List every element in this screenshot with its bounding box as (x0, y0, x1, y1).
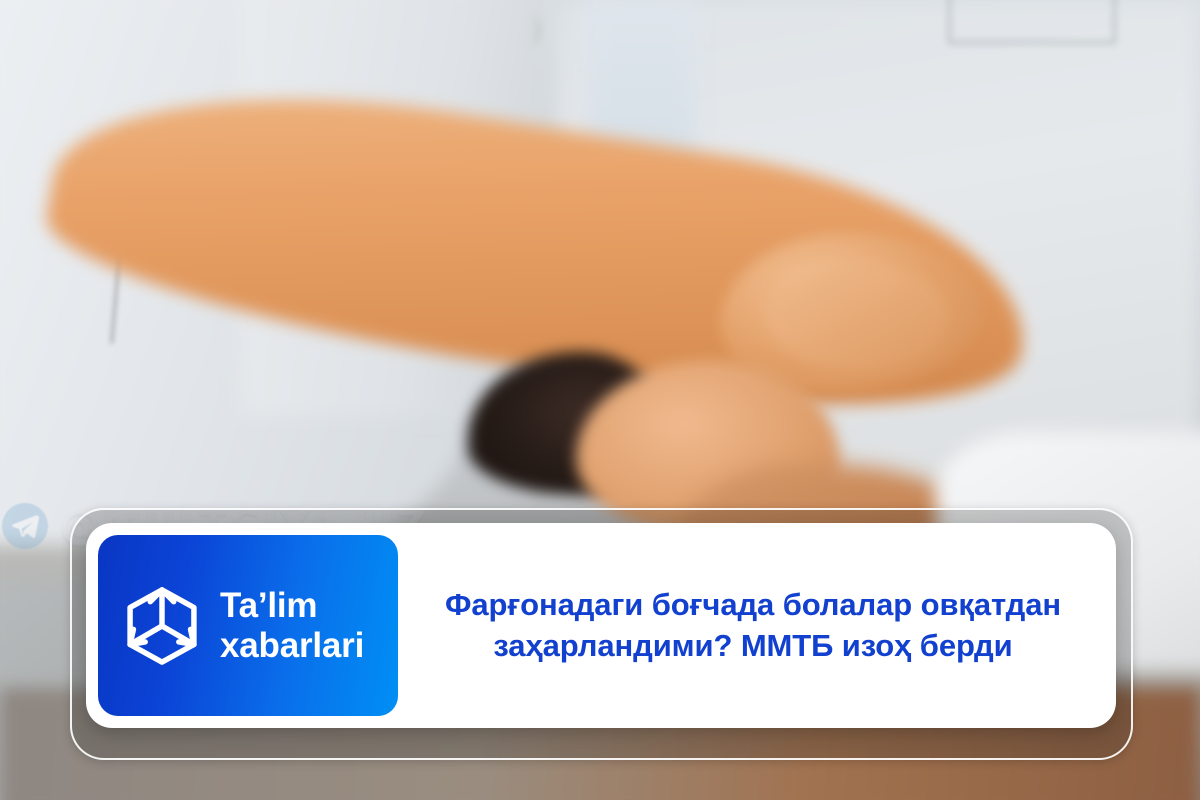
brand-name: Ta’lim xabarlari (220, 586, 364, 664)
news-card-image: @MULTGIYA_UZ (0, 0, 1200, 800)
brand-name-line-2: xabarlari (220, 626, 364, 665)
headline-area: Фарғонадаги боғчада болалар овқатдан заҳ… (398, 523, 1116, 728)
brand-badge: Ta’lim xabarlari (98, 535, 398, 716)
news-card: Ta’lim xabarlari Фарғонадаги боғчада бол… (86, 523, 1116, 728)
brand-name-line-1: Ta’lim (220, 586, 364, 625)
headline-text: Фарғонадаги боғчада болалар овқатдан заҳ… (433, 585, 1073, 666)
cube-logo-icon (120, 584, 204, 668)
